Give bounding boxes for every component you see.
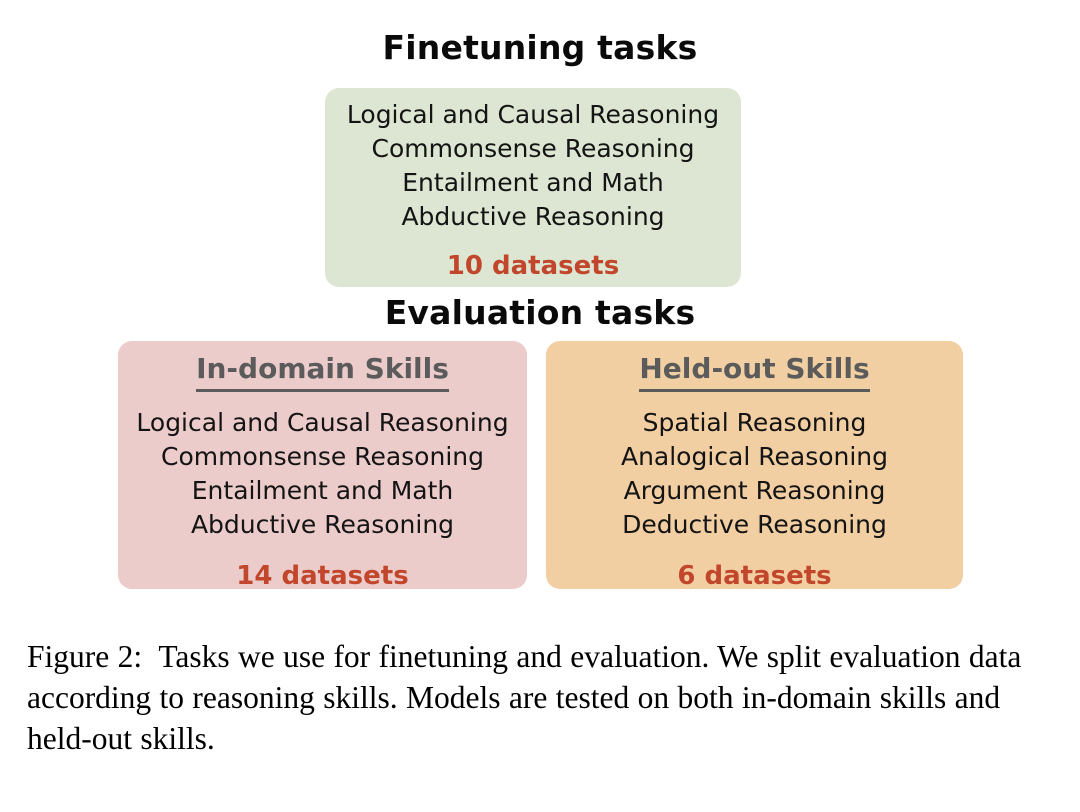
- task-item: Entailment and Math: [325, 166, 741, 200]
- task-item: Commonsense Reasoning: [118, 440, 527, 474]
- task-item: Logical and Causal Reasoning: [325, 98, 741, 132]
- figure-caption-label: Figure 2:: [27, 639, 142, 674]
- task-item: Abductive Reasoning: [118, 508, 527, 542]
- task-item: Deductive Reasoning: [546, 508, 963, 542]
- held-out-dataset-count: 6 datasets: [546, 560, 963, 592]
- task-item: Analogical Reasoning: [546, 440, 963, 474]
- figure-container: Finetuning tasks Logical and Causal Reas…: [0, 0, 1080, 812]
- task-item: Commonsense Reasoning: [325, 132, 741, 166]
- evaluation-section-heading: Evaluation tasks: [0, 293, 1080, 333]
- figure-caption: Figure 2: Tasks we use for finetuning an…: [27, 636, 1053, 759]
- finetuning-section-heading: Finetuning tasks: [0, 28, 1080, 68]
- finetuning-task-list: Logical and Causal Reasoning Commonsense…: [325, 98, 741, 234]
- finetuning-dataset-count: 10 datasets: [325, 250, 741, 282]
- held-out-skills-card: Held-out Skills Spatial Reasoning Analog…: [546, 341, 963, 589]
- task-item: Logical and Causal Reasoning: [118, 406, 527, 440]
- in-domain-skills-title: In-domain Skills: [196, 350, 449, 392]
- in-domain-skills-card: In-domain Skills Logical and Causal Reas…: [118, 341, 527, 589]
- task-item: Argument Reasoning: [546, 474, 963, 508]
- task-item: Entailment and Math: [118, 474, 527, 508]
- finetuning-tasks-card: Logical and Causal Reasoning Commonsense…: [325, 88, 741, 287]
- task-item: Spatial Reasoning: [546, 406, 963, 440]
- in-domain-task-list: Logical and Causal Reasoning Commonsense…: [118, 406, 527, 542]
- task-item: Abductive Reasoning: [325, 200, 741, 234]
- held-out-skills-title: Held-out Skills: [639, 350, 869, 392]
- in-domain-dataset-count: 14 datasets: [118, 560, 527, 592]
- held-out-task-list: Spatial Reasoning Analogical Reasoning A…: [546, 406, 963, 542]
- figure-caption-text: Tasks we use for finetuning and evaluati…: [27, 639, 1021, 756]
